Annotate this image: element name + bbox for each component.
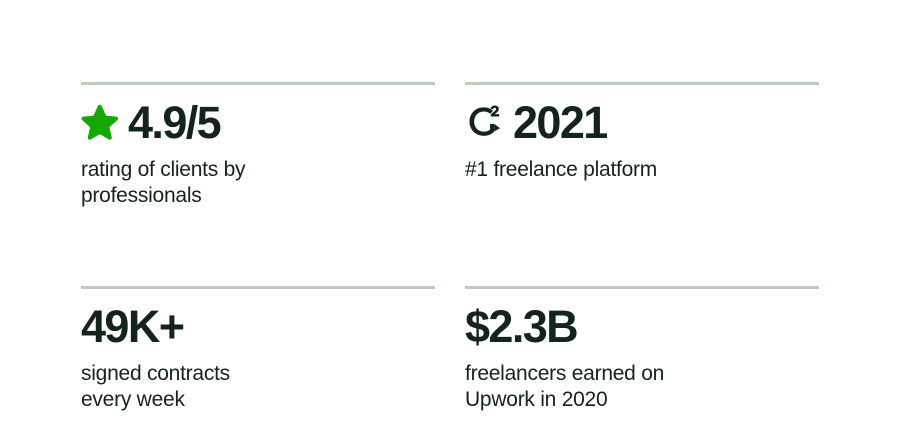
g2-logo-icon [465,102,506,143]
stat-caption-line: signed contracts [81,361,411,387]
stat-value: $2.3B [465,304,577,350]
stat-value: 49K+ [81,304,183,350]
stat-caption: #1 freelance platform [465,157,795,183]
stat-value: 2021 [513,100,607,146]
divider-rule [81,286,435,289]
stat-card-contracts: 49K+ signed contracts every week [81,286,435,412]
stat-value: 4.9/5 [128,100,220,146]
stat-caption-line: freelancers earned on [465,361,795,387]
stat-caption-line: Upwork in 2020 [465,387,795,413]
stat-caption: freelancers earned on Upwork in 2020 [465,361,795,412]
divider-rule [81,82,435,85]
stat-caption-line: professionals [81,183,411,209]
stat-caption-line: #1 freelance platform [465,157,795,183]
stat-headline: 49K+ [81,304,435,350]
stats-grid: 4.9/5 rating of clients by professionals… [81,82,819,412]
stat-headline: 4.9/5 [81,100,435,146]
stat-card-earnings: $2.3B freelancers earned on Upwork in 20… [465,286,819,412]
stat-card-rating: 4.9/5 rating of clients by professionals [81,82,435,208]
stat-caption-line: every week [81,387,411,413]
stat-caption-line: rating of clients by [81,157,411,183]
divider-rule [465,82,819,85]
stat-headline: $2.3B [465,304,819,350]
stat-headline: 2021 [465,100,819,146]
star-icon [81,103,119,141]
divider-rule [465,286,819,289]
stat-caption: rating of clients by professionals [81,157,411,208]
stat-caption: signed contracts every week [81,361,411,412]
stat-card-g2-award: 2021 #1 freelance platform [465,82,819,208]
